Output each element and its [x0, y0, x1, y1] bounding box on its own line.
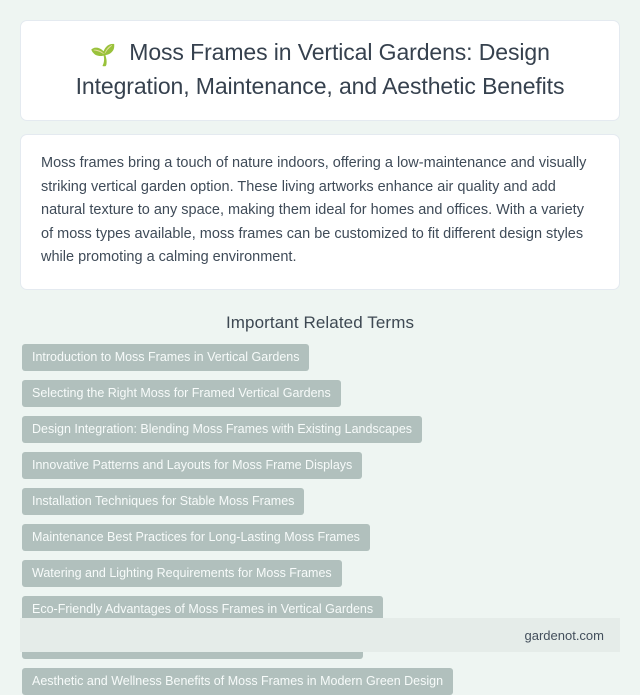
related-term-tag[interactable]: Design Integration: Blending Moss Frames… [22, 416, 422, 443]
related-term-tag[interactable]: Selecting the Right Moss for Framed Vert… [22, 380, 341, 407]
related-terms-heading: Important Related Terms [20, 313, 620, 333]
title-card: 🌱Moss Frames in Vertical Gardens: Design… [20, 20, 620, 121]
related-term-tag[interactable]: Maintenance Best Practices for Long-Last… [22, 524, 370, 551]
page-title: 🌱Moss Frames in Vertical Gardens: Design… [45, 37, 595, 102]
related-term-tag[interactable]: Aesthetic and Wellness Benefits of Moss … [22, 668, 453, 695]
related-term-tag[interactable]: Installation Techniques for Stable Moss … [22, 488, 304, 515]
description-text: Moss frames bring a touch of nature indo… [41, 152, 599, 270]
seedling-icon: 🌱 [90, 44, 116, 67]
related-term-tag[interactable]: Introduction to Moss Frames in Vertical … [22, 344, 309, 371]
related-term-tag[interactable]: Watering and Lighting Requirements for M… [22, 560, 342, 587]
footer-bar: gardenot.com [20, 618, 620, 652]
page-title-text: Moss Frames in Vertical Gardens: Design … [76, 39, 565, 99]
footer-site-name: gardenot.com [525, 628, 605, 643]
page-root: 🌱Moss Frames in Vertical Gardens: Design… [0, 0, 640, 683]
description-card: Moss frames bring a touch of nature indo… [20, 134, 620, 290]
related-term-tag[interactable]: Innovative Patterns and Layouts for Moss… [22, 452, 362, 479]
